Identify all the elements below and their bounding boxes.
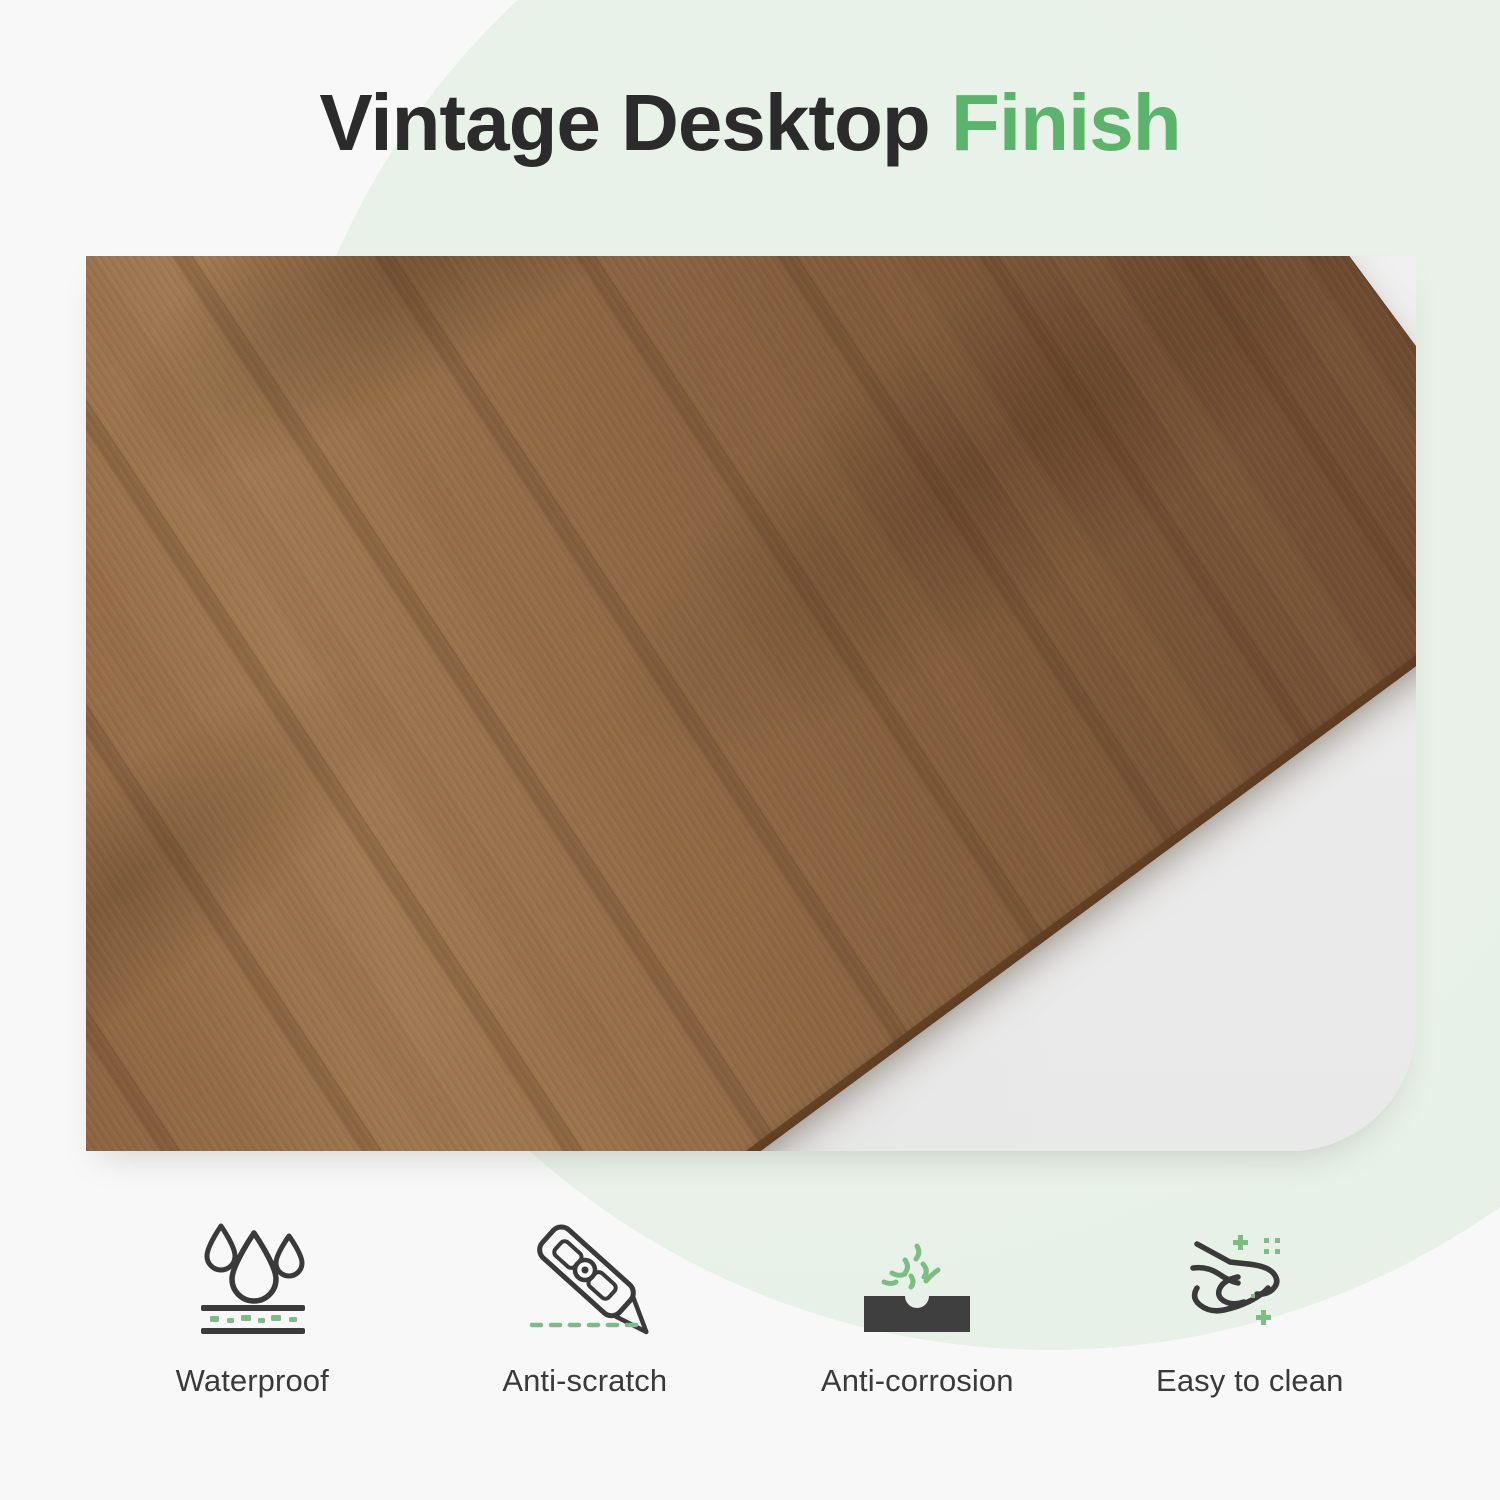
utility-knife-icon xyxy=(510,1218,660,1336)
feature-item-easy-to-clean: Easy to clean xyxy=(1084,1218,1417,1399)
feature-label: Waterproof xyxy=(176,1363,329,1399)
wood-desktop-image xyxy=(86,256,1416,994)
feature-item-waterproof: Waterproof xyxy=(86,1218,419,1399)
feature-label: Anti-corrosion xyxy=(821,1363,1014,1399)
feature-list: Waterproof xyxy=(86,1218,1416,1399)
page-title-primary: Vintage Desktop xyxy=(319,78,929,167)
feature-item-anti-corrosion: Anti-corrosion xyxy=(751,1218,1084,1399)
corroded-surface-icon xyxy=(842,1218,992,1336)
product-photo-card: Safe Round Corner xyxy=(86,256,1416,1151)
water-drops-icon xyxy=(177,1218,327,1336)
feature-label: Easy to clean xyxy=(1156,1363,1343,1399)
wiping-hand-icon xyxy=(1175,1218,1325,1336)
page-title: Vintage Desktop Finish xyxy=(0,83,1500,163)
feature-item-anti-scratch: Anti-scratch xyxy=(419,1218,752,1399)
page-title-accent: Finish xyxy=(951,78,1181,167)
feature-label: Anti-scratch xyxy=(502,1363,667,1399)
marketing-banner: Vintage Desktop Finish xyxy=(0,0,1500,1500)
